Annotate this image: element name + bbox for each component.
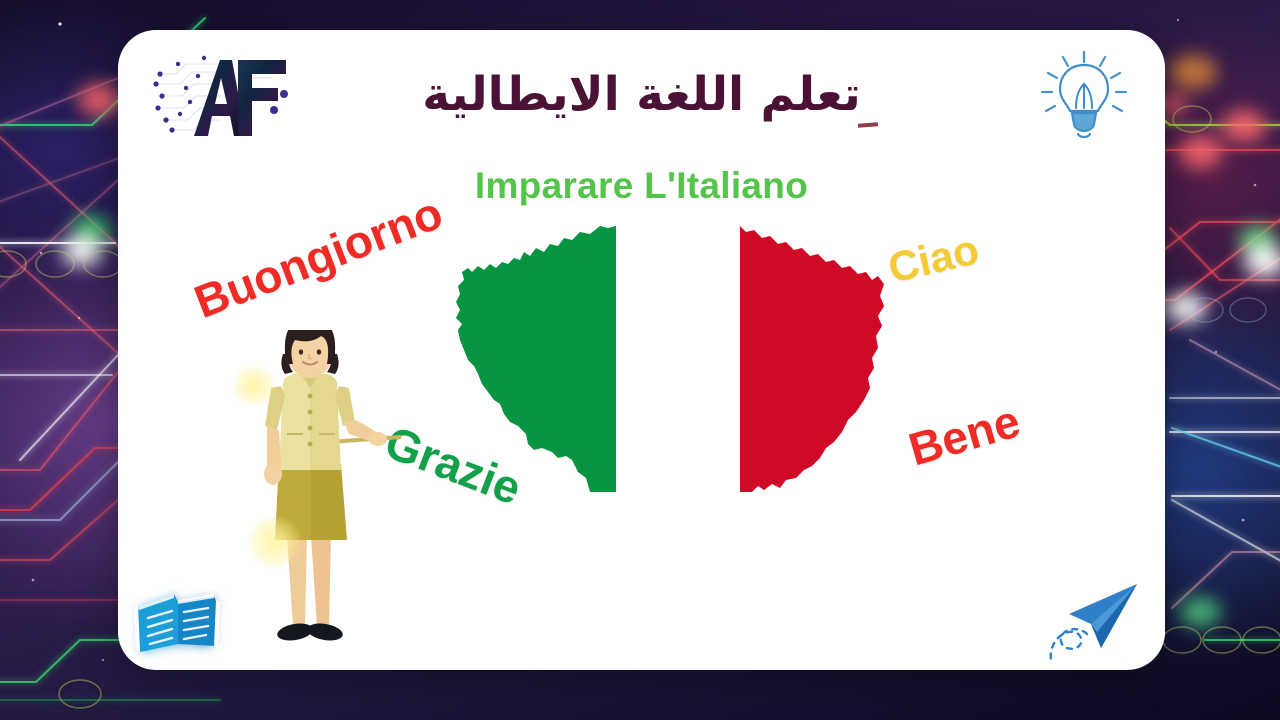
page-title-arabic: تعلم اللغة الايطالية [118, 66, 1165, 125]
paper-plane-icon [1035, 576, 1145, 664]
page-subtitle: Imparare L'Italiano [118, 165, 1165, 207]
word-bene: Bene [903, 394, 1026, 477]
lesson-card: تعلم اللغة الايطالية Imparare L'Italiano… [118, 30, 1165, 670]
lightbulb-icon [1038, 48, 1130, 148]
title-dash-mark [858, 122, 878, 127]
open-book-icon [128, 574, 228, 662]
teacher-illustration [223, 330, 413, 660]
screenshot-root: تعلم اللغة الايطالية Imparare L'Italiano… [0, 0, 1280, 720]
italy-map-red-half [738, 220, 918, 495]
italy-map-green-half [438, 220, 618, 495]
